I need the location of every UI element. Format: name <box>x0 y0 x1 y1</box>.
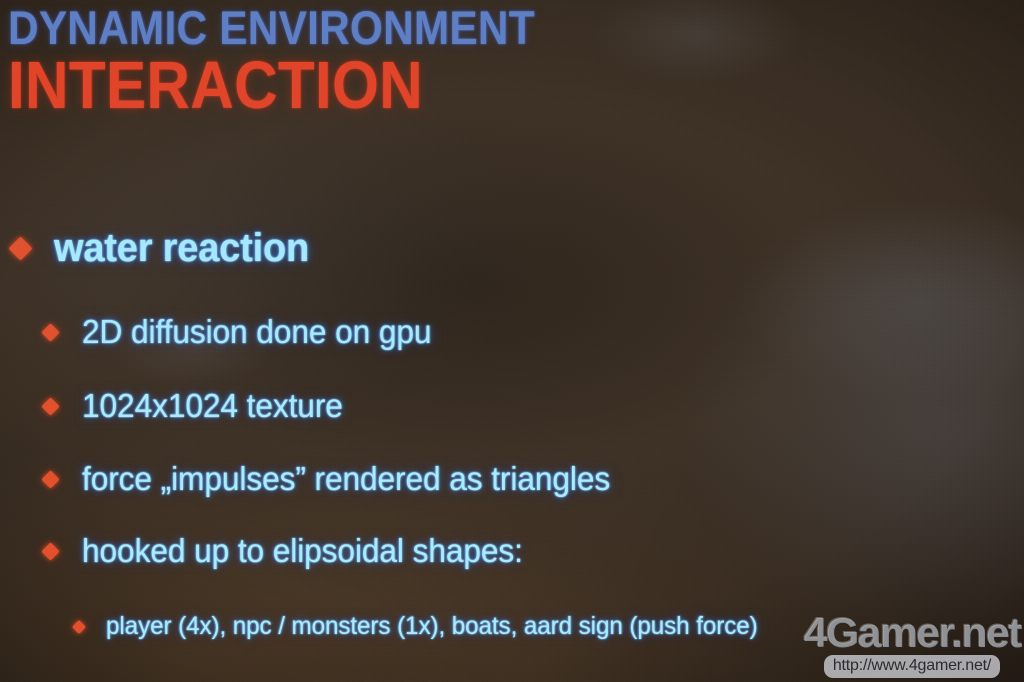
bullet-text: 2D diffusion done on gpu <box>82 313 431 351</box>
bullet-item-2d-diffusion: 2D diffusion done on gpu <box>44 313 446 351</box>
projected-slide-photo: DYNAMIC ENVIRONMENT INTERACTION water re… <box>0 0 1024 682</box>
title-line-dynamic-environment: DYNAMIC ENVIRONMENT <box>8 2 535 54</box>
title-line-interaction: INTERACTION <box>8 51 535 121</box>
bullet-text: player (4x), npc / monsters (1x), boats,… <box>106 612 758 641</box>
watermark-url: http://www.4gamer.net/ <box>824 655 1000 678</box>
bullet-item-water-reaction: water reaction <box>12 226 322 271</box>
bullet-item-elipsoidal-shapes: hooked up to elipsoidal shapes: <box>44 532 541 570</box>
watermark-logo-4gamer: 4Gamer.net <box>804 613 1020 653</box>
diamond-bullet-icon <box>8 236 32 260</box>
diamond-bullet-icon <box>41 323 59 341</box>
diamond-bullet-icon <box>41 542 59 560</box>
bullet-text: force „impulses” rendered as triangles <box>82 460 610 498</box>
bullet-text: water reaction <box>54 226 309 271</box>
bullet-text: hooked up to elipsoidal shapes: <box>82 532 523 570</box>
diamond-bullet-icon <box>41 397 59 415</box>
bullet-text: 1024x1024 texture <box>82 387 343 425</box>
bullet-item-texture-size: 1024x1024 texture <box>44 387 354 425</box>
bullet-item-force-impulses: force „impulses” rendered as triangles <box>44 460 632 498</box>
slide-content: DYNAMIC ENVIRONMENT INTERACTION water re… <box>0 0 1024 682</box>
watermark: 4Gamer.net http://www.4gamer.net/ <box>806 613 1018 678</box>
diamond-bullet-icon <box>41 470 59 488</box>
slide-title: DYNAMIC ENVIRONMENT INTERACTION <box>8 2 593 121</box>
bullet-item-shape-list: player (4x), npc / monsters (1x), boats,… <box>74 612 778 641</box>
diamond-bullet-icon <box>72 619 86 633</box>
